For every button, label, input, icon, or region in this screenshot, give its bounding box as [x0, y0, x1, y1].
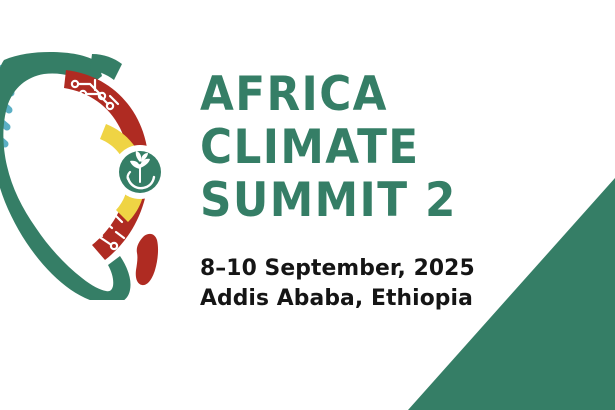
africa-climate-summit-logo — [0, 32, 184, 300]
poster-title: AFRICA CLIMATE SUMMIT 2 — [200, 68, 586, 227]
poster-text-block: AFRICA CLIMATE SUMMIT 2 8–10 September, … — [200, 68, 615, 313]
leaf-plug-roundel-icon — [11, 123, 53, 165]
event-location: Addis Ababa, Ethiopia — [200, 283, 603, 313]
madagascar-shape — [136, 234, 158, 285]
poster-subtitle: 8–10 September, 2025 Addis Ababa, Ethiop… — [200, 227, 603, 313]
event-dates: 8–10 September, 2025 — [200, 253, 603, 283]
event-poster: AFRICA CLIMATE SUMMIT 2 8–10 September, … — [0, 0, 615, 410]
hand-sprout-emblem-icon — [119, 151, 161, 193]
